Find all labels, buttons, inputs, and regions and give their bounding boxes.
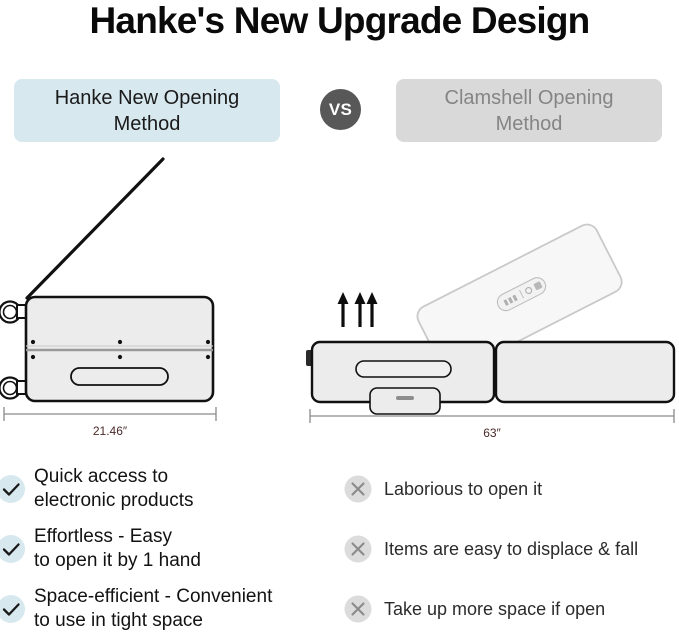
list-item-line1: Effortless - Easy — [34, 526, 172, 547]
check-circle-icon — [0, 474, 26, 504]
list-item-text: Effortless - Easy to open it by 1 hand — [34, 525, 201, 573]
method-label-hanke-line1: Hanke New Opening — [55, 85, 240, 111]
list-item-line1: Laborious to open it — [384, 479, 542, 499]
list-item: Laborious to open it — [336, 462, 679, 516]
method-label-hanke-line2: Method — [55, 111, 240, 137]
list-item: Space-efficient - Convenient to use in t… — [0, 582, 330, 636]
check-circle-icon — [0, 534, 26, 564]
x-circle-icon — [344, 595, 372, 623]
list-item-line2: to open it by 1 hand — [34, 549, 201, 573]
dimension-line-left — [4, 407, 216, 421]
list-item-line1: Space-efficient - Convenient — [34, 586, 272, 607]
dimension-label-right: 63″ — [483, 426, 501, 440]
method-label-clamshell-line1: Clamshell Opening — [445, 85, 614, 111]
list-item: Quick access to electronic products — [0, 462, 330, 516]
x-circle-icon — [344, 475, 372, 503]
case-handle — [71, 368, 168, 385]
diagram-clamshell-opening: 63″ — [300, 180, 679, 450]
check-circle-icon — [0, 594, 26, 624]
list-item-line2: electronic products — [34, 489, 193, 513]
method-label-clamshell-line2: Method — [445, 111, 614, 137]
list-item-text: Items are easy to displace & fall — [384, 538, 638, 561]
base-handle — [356, 361, 451, 377]
dimension-label-left: 21.46″ — [93, 424, 128, 438]
dimension-line-right — [310, 409, 674, 423]
list-item: Items are easy to displace & fall — [336, 522, 679, 576]
list-item-line1: Items are easy to displace & fall — [384, 539, 638, 559]
cons-list: Laborious to open it Items are easy to d… — [336, 462, 679, 642]
list-item-text: Quick access to electronic products — [34, 465, 193, 513]
list-item: Effortless - Easy to open it by 1 hand — [0, 522, 330, 576]
list-item-line1: Quick access to — [34, 466, 168, 487]
list-item-line1: Take up more space if open — [384, 599, 605, 619]
page-title: Hanke's New Upgrade Design — [0, 0, 679, 44]
lid-line — [27, 159, 163, 298]
list-item-text: Space-efficient - Convenient to use in t… — [34, 585, 272, 633]
clamshell-base-right — [496, 342, 674, 402]
comparison-infographic: Hanke's New Upgrade Design Hanke New Ope… — [0, 0, 679, 643]
diagram-hanke-opening: 21.46″ — [0, 150, 300, 450]
list-item: Take up more space if open — [336, 582, 679, 636]
lift-arrows-icon — [338, 292, 378, 327]
base-pocket — [370, 388, 440, 414]
method-label-clamshell: Clamshell Opening Method — [396, 79, 662, 142]
vs-badge: VS — [320, 89, 361, 130]
method-label-hanke: Hanke New Opening Method — [14, 79, 280, 142]
list-item-text: Laborious to open it — [384, 478, 542, 501]
x-circle-icon — [344, 535, 372, 563]
pros-list: Quick access to electronic products Effo… — [0, 462, 330, 642]
list-item-text: Take up more space if open — [384, 598, 605, 621]
list-item-line2: to use in tight space — [34, 609, 272, 633]
